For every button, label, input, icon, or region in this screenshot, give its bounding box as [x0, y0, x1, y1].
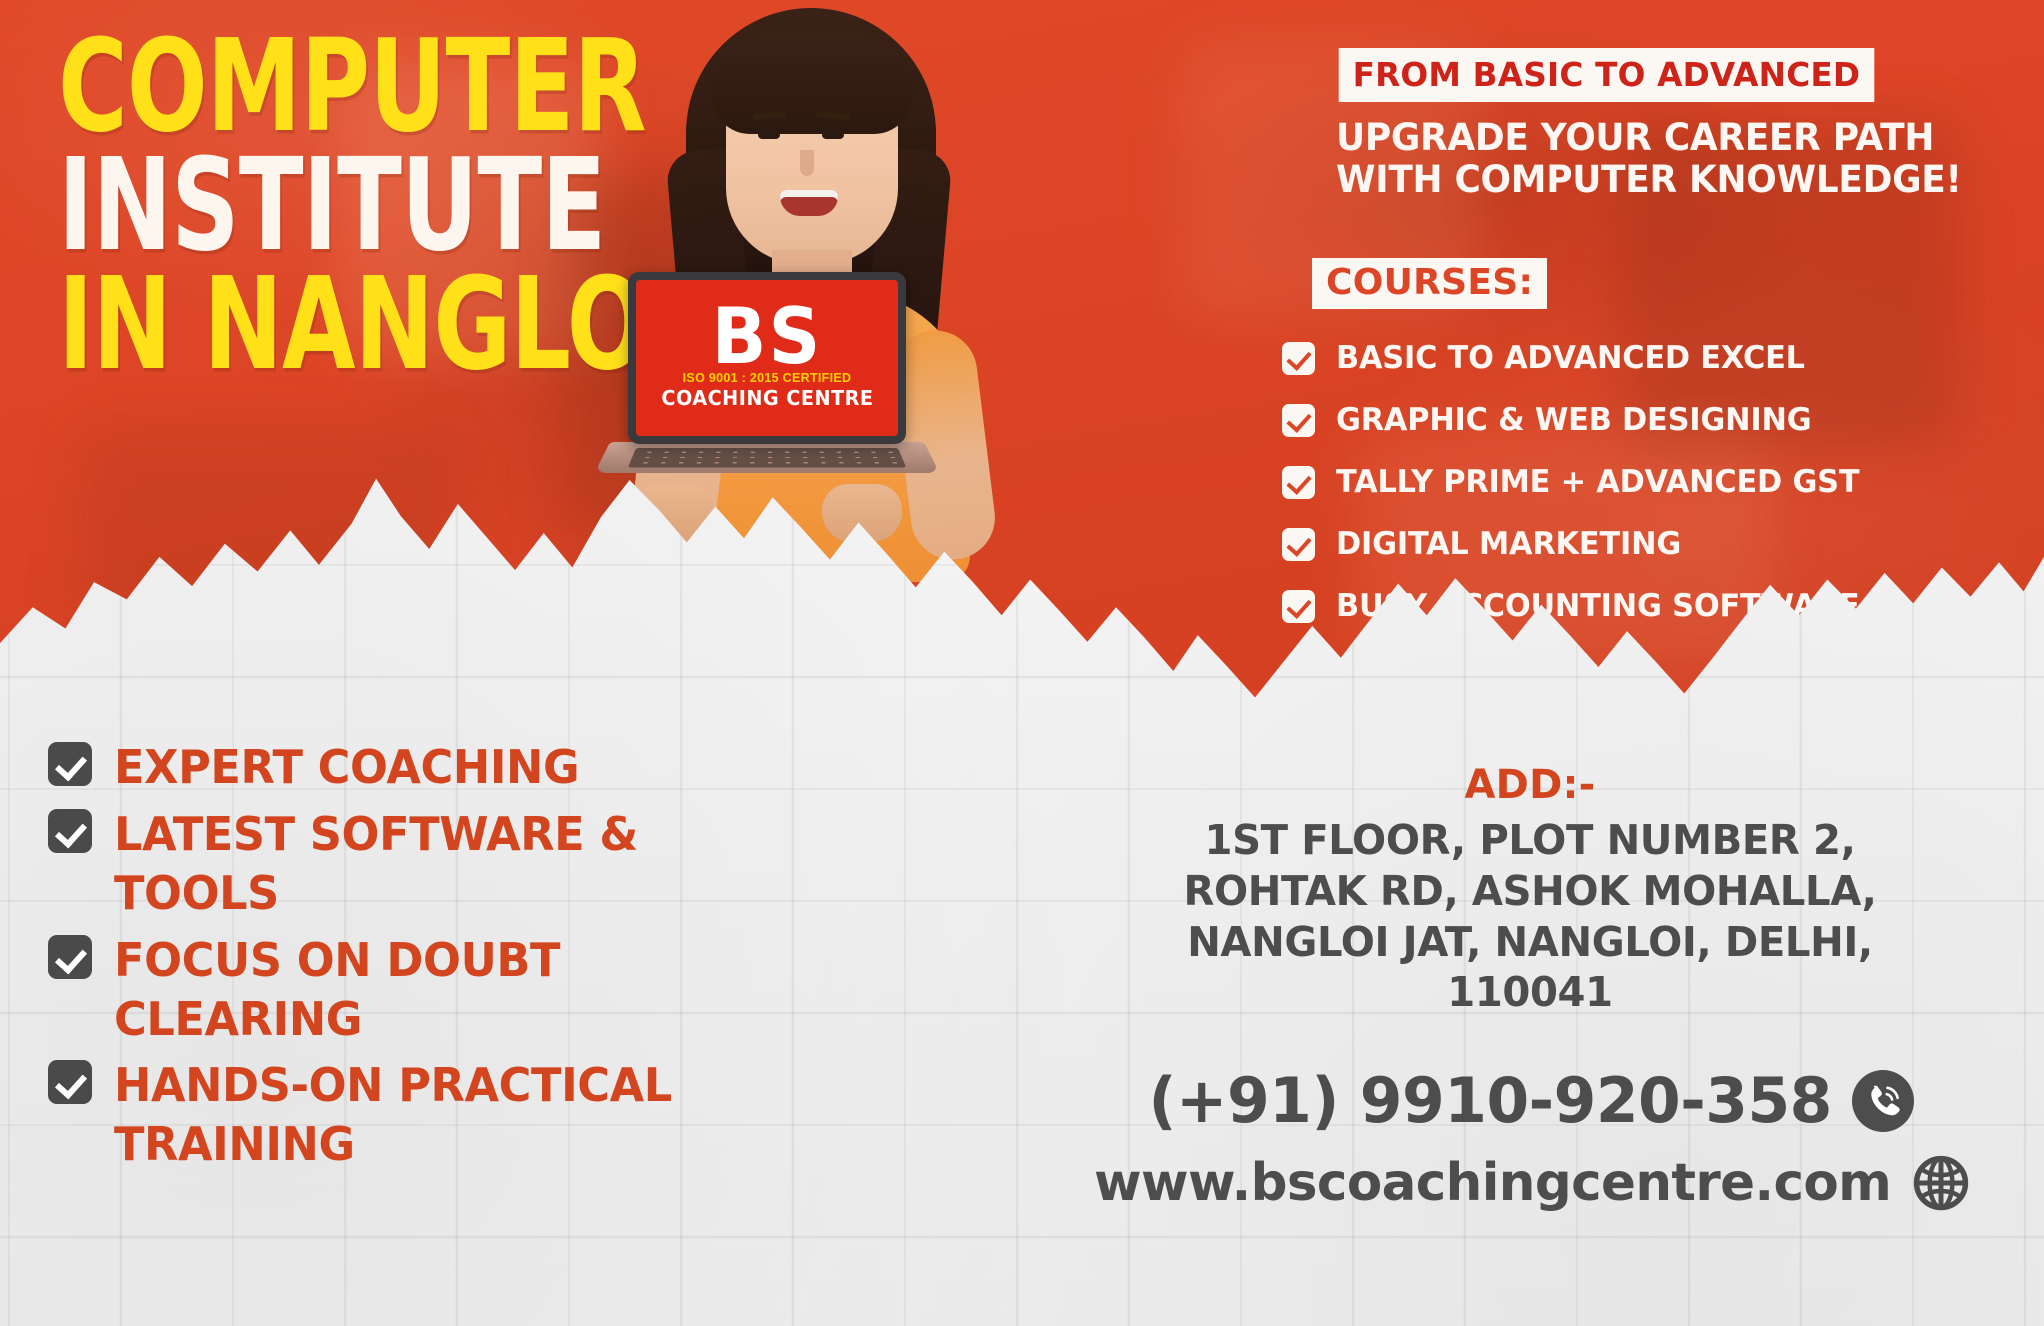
- feature-label: HANDS-ON PRACTICAL TRAINING: [114, 1056, 783, 1174]
- website-url[interactable]: www.bscoachingcentre.com: [1094, 1153, 1891, 1213]
- check-icon: [48, 809, 92, 853]
- feature-item: EXPERT COACHING: [48, 738, 848, 797]
- phone-row[interactable]: (+91) 9910-920-358: [1100, 1064, 1960, 1137]
- feature-label: LATEST SOFTWARE & TOOLS: [114, 805, 783, 923]
- website-row[interactable]: www.bscoachingcentre.com: [1100, 1153, 1960, 1213]
- laptop-lid: BS ISO 9001 : 2015 CERTIFIED COACHING CE…: [628, 272, 906, 444]
- promo-ribbon: FROM BASIC TO ADVANCED: [1339, 48, 1874, 102]
- headline-line-3: IN NANGLOI: [58, 264, 621, 388]
- poster-root: COMPUTER INSTITUTE IN NANGLOI BS ISO 900…: [0, 0, 2044, 1326]
- laptop-keyboard: [628, 448, 906, 468]
- nose: [800, 150, 814, 176]
- check-icon: [1282, 342, 1315, 375]
- course-item: GRAPHIC & WEB DESIGNING: [1282, 402, 2002, 438]
- course-item: BASIC TO ADVANCED EXCEL: [1282, 340, 2002, 376]
- logo-subtitle: COACHING CENTRE: [661, 386, 873, 410]
- address-line-1: 1ST FLOOR, PLOT NUMBER 2,: [1109, 815, 1952, 866]
- feature-item: LATEST SOFTWARE & TOOLS: [48, 805, 848, 923]
- eye-right: [822, 128, 844, 139]
- course-label: BASIC TO ADVANCED EXCEL: [1336, 340, 1805, 376]
- globe-icon: [1912, 1154, 1970, 1212]
- address-line-3: NANGLOI JAT, NANGLOI, DELHI,: [1109, 917, 1952, 968]
- feature-item: FOCUS ON DOUBT CLEARING: [48, 931, 848, 1049]
- address-line-2: ROHTAK RD, ASHOK MOHALLA,: [1109, 866, 1952, 917]
- address-line-4: 110041: [1109, 967, 1952, 1018]
- check-icon: [1282, 466, 1315, 499]
- course-item: TALLY PRIME + ADVANCED GST: [1282, 464, 2002, 500]
- headline-block: COMPUTER INSTITUTE IN NANGLOI: [58, 26, 698, 382]
- hair-fringe: [712, 30, 912, 134]
- address-label: ADD:-: [1100, 762, 1960, 808]
- check-icon: [1282, 404, 1315, 437]
- logo-initials: BS: [712, 303, 823, 368]
- feature-label: FOCUS ON DOUBT CLEARING: [114, 931, 783, 1049]
- contact-block: ADD:- 1ST FLOOR, PLOT NUMBER 2, ROHTAK R…: [1100, 762, 1960, 1213]
- course-item: DIGITAL MARKETING: [1282, 526, 2002, 562]
- eye-left: [758, 128, 780, 139]
- phone-call-icon: [1851, 1069, 1915, 1133]
- features-list: EXPERT COACHING LATEST SOFTWARE & TOOLS …: [48, 738, 848, 1182]
- check-icon: [1282, 528, 1315, 561]
- courses-heading: COURSES:: [1312, 258, 1547, 309]
- headline-line-2: INSTITUTE: [58, 145, 621, 269]
- mouth: [780, 190, 838, 216]
- address-text: 1ST FLOOR, PLOT NUMBER 2, ROHTAK RD, ASH…: [1109, 815, 1952, 1018]
- laptop: BS ISO 9001 : 2015 CERTIFIED COACHING CE…: [610, 272, 950, 540]
- feature-item: HANDS-ON PRACTICAL TRAINING: [48, 1056, 848, 1174]
- feature-label: EXPERT COACHING: [114, 738, 579, 797]
- promo-tagline-line-1: UPGRADE YOUR CAREER PATH: [1336, 117, 1980, 159]
- check-icon: [48, 742, 92, 786]
- promo-block: FROM BASIC TO ADVANCED UPGRADE YOUR CARE…: [1336, 48, 2000, 201]
- course-label: GRAPHIC & WEB DESIGNING: [1336, 402, 1811, 438]
- check-icon: [1282, 590, 1315, 623]
- promo-tagline: UPGRADE YOUR CAREER PATH WITH COMPUTER K…: [1336, 117, 1980, 201]
- course-label: TALLY PRIME + ADVANCED GST: [1336, 464, 1859, 500]
- check-icon: [48, 935, 92, 979]
- course-label: DIGITAL MARKETING: [1336, 526, 1681, 562]
- laptop-screen-logo: BS ISO 9001 : 2015 CERTIFIED COACHING CE…: [636, 280, 898, 436]
- promo-tagline-line-2: WITH COMPUTER KNOWLEDGE!: [1336, 159, 1980, 201]
- phone-number[interactable]: (+91) 9910-920-358: [1148, 1064, 1831, 1137]
- check-icon: [48, 1060, 92, 1104]
